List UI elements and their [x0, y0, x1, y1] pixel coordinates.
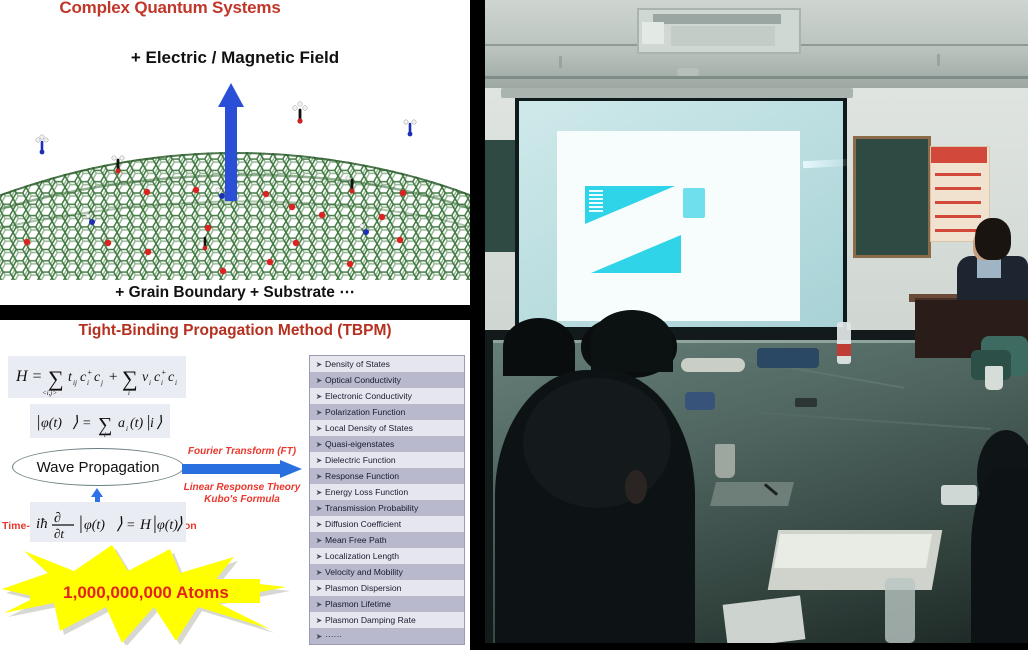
svg-text:i: i: [149, 379, 151, 387]
svg-text:H: H: [139, 517, 152, 533]
rolled-paper: [681, 358, 745, 372]
svg-text:∂t: ∂t: [54, 526, 64, 541]
projection-screen-housing: [501, 88, 853, 98]
svg-text:|: |: [36, 412, 41, 431]
svg-text:c: c: [80, 370, 87, 385]
panel-title-tbpm: Tight-Binding Propagation Method (TBPM): [0, 322, 470, 340]
arrow-bullet-icon: ➤: [313, 440, 325, 449]
loose-paper: [723, 595, 806, 643]
quantity-list-item-label: Energy Loss Function: [325, 487, 408, 497]
arrow-bullet-icon: ➤: [313, 488, 325, 497]
quantity-list-item-label: Local Density of States: [325, 423, 413, 433]
arrow-bullet-icon: ➤: [313, 392, 325, 401]
svg-text:i: i: [175, 379, 177, 387]
quantity-list-item[interactable]: ➤Plasmon Dispersion: [310, 580, 464, 596]
presenter-shirt: [977, 258, 1001, 278]
quantity-list-item[interactable]: ➤Polarization Function: [310, 404, 464, 420]
quantity-list-item-label: Localization Length: [325, 551, 399, 561]
quantity-list-item[interactable]: ➤Optical Conductivity: [310, 372, 464, 388]
label-fourier-transform: Fourier Transform (FT): [180, 446, 304, 457]
poster-header: [931, 147, 987, 163]
svg-text:=: =: [82, 416, 91, 431]
svg-text:+: +: [87, 368, 92, 377]
screenshot-root: Complex Quantum Systems + Electric / Mag…: [0, 0, 1028, 650]
phone-on-table-2: [941, 485, 977, 505]
quantity-list-item[interactable]: ➤Response Function: [310, 468, 464, 484]
quantity-list-item[interactable]: ➤Electronic Conductivity: [310, 388, 464, 404]
lrt-line2: Kubo's Formula: [204, 494, 280, 505]
quantity-list-item[interactable]: ➤······: [310, 628, 464, 644]
svg-text:i: i: [161, 379, 163, 387]
svg-text:i: i: [128, 389, 130, 397]
svg-text:(t): (t): [130, 416, 144, 431]
arrow-bullet-icon: ➤: [313, 504, 325, 513]
arrow-bullet-icon: ➤: [313, 360, 325, 369]
slide-text-lines: [589, 190, 607, 212]
water-bottle-1: [837, 322, 851, 364]
slide-triangle-lower: [591, 235, 681, 273]
arrow-bullet-icon: ➤: [313, 520, 325, 529]
svg-text:c: c: [168, 370, 175, 385]
quantity-list-item-label: Response Function: [325, 471, 399, 481]
equation-wavefunction: | φ(t) ⟩ = ∑ i a i (t) | i ⟩: [30, 404, 170, 438]
complex-quantum-systems-panel: Complex Quantum Systems + Electric / Mag…: [0, 0, 470, 305]
arrow-bullet-icon: ➤: [313, 632, 325, 641]
atoms-starburst: 1,000,000,000 Atoms: [2, 545, 292, 645]
quantity-list-item[interactable]: ➤Dielectric Function: [310, 452, 464, 468]
lrt-line1: Linear Response Theory: [184, 482, 301, 493]
quantity-list-item[interactable]: ➤Localization Length: [310, 548, 464, 564]
arrow-bullet-icon: ➤: [313, 552, 325, 561]
arrow-bullet-icon: ➤: [313, 584, 325, 593]
ceiling-hook-left: [559, 56, 562, 68]
wave-propagation-label: Wave Propagation: [37, 459, 160, 476]
slide-rounded-box: [683, 188, 705, 218]
svg-text:∂: ∂: [54, 511, 61, 526]
blackboard-left: [485, 140, 518, 252]
bag-on-table: [757, 348, 819, 368]
caption-electric-magnetic-field: + Electric / Magnetic Field: [0, 48, 470, 68]
ceiling-sensor: [677, 68, 699, 76]
ac-inner-slot: [653, 14, 781, 24]
svg-text:+: +: [108, 369, 118, 385]
equation-schrodinger: iħ ∂ ∂t | φ(t) ⟩ = H | φ(t) ⟩: [30, 502, 186, 542]
audience-head-1: [503, 318, 575, 376]
quantity-list-item[interactable]: ➤Plasmon Damping Rate: [310, 612, 464, 628]
quantity-list-item[interactable]: ➤Velocity and Mobility: [310, 564, 464, 580]
ceiling-rail-2: [485, 76, 1028, 79]
svg-text:⟩: ⟩: [176, 514, 183, 533]
equation-hamiltonian: H = ∑ <i,j> t ij c + i c j + ∑ i v i c +…: [8, 356, 186, 398]
audience-head-2: [591, 310, 673, 372]
small-bag: [685, 392, 715, 410]
arrow-bullet-icon: ➤: [313, 472, 325, 481]
quantity-list-item-label: Diffusion Coefficient: [325, 519, 401, 529]
quantity-list-item-label: ······: [325, 631, 342, 641]
quantity-list-item-label: Polarization Function: [325, 407, 405, 417]
quantity-list-item[interactable]: ➤Density of States: [310, 356, 464, 372]
paper-cup-center: [715, 444, 735, 478]
quantity-list-item[interactable]: ➤Diffusion Coefficient: [310, 516, 464, 532]
svg-text:i: i: [150, 416, 154, 431]
arrow-bullet-icon: ➤: [313, 536, 325, 545]
ceiling-hook-right: [937, 54, 940, 66]
graphene-sheet-illustration: [0, 80, 470, 285]
svg-text:φ(t): φ(t): [84, 518, 105, 533]
arrow-bullet-icon: ➤: [313, 456, 325, 465]
svg-text:iħ: iħ: [36, 516, 48, 532]
quantity-list-item-label: Transmission Probability: [325, 503, 418, 513]
svg-text:⟩: ⟩: [72, 414, 79, 431]
quantity-list-item[interactable]: ➤Plasmon Lifetime: [310, 596, 464, 612]
computable-quantities-list[interactable]: ➤Density of States➤Optical Conductivity➤…: [309, 355, 465, 645]
lecture-room-photo: [485, 0, 1028, 643]
arrow-bullet-icon: ➤: [313, 424, 325, 433]
svg-text:v: v: [142, 370, 149, 385]
quantity-list-item-label: Dielectric Function: [325, 455, 396, 465]
wave-propagation-node: Wave Propagation: [12, 448, 184, 486]
notepad: [710, 482, 794, 506]
panel-title-complex-quantum-systems: Complex Quantum Systems: [0, 0, 340, 18]
svg-text:i: i: [104, 431, 106, 438]
svg-text:φ(t): φ(t): [41, 416, 62, 431]
quantity-list-item[interactable]: ➤Local Density of States: [310, 420, 464, 436]
quantity-list-item[interactable]: ➤Mean Free Path: [310, 532, 464, 548]
svg-text:ij: ij: [73, 379, 77, 387]
audience-ear: [625, 470, 647, 504]
audience-head-foreground-crown: [523, 378, 671, 508]
blackboard-right: [853, 136, 931, 258]
quantity-list-item[interactable]: ➤Energy Loss Function: [310, 484, 464, 500]
quantity-list-item-label: Density of States: [325, 359, 390, 369]
svg-text:=: =: [126, 518, 135, 533]
quantity-list-item[interactable]: ➤Quasi-eigenstates: [310, 436, 464, 452]
audience-head-right: [971, 468, 1028, 643]
svg-text:a: a: [118, 416, 125, 431]
svg-text:c: c: [94, 370, 101, 385]
arrow-bullet-icon: ➤: [313, 568, 325, 577]
label-one-billion-atoms: 1,000,000,000 Atoms: [32, 583, 260, 603]
svg-text:c: c: [154, 370, 161, 385]
caption-grain-boundary-substrate: + Grain Boundary + Substrate ⋯: [0, 283, 470, 302]
quantity-list-item-label: Plasmon Dispersion: [325, 583, 401, 593]
quantity-list-item-label: Plasmon Damping Rate: [325, 615, 416, 625]
quantity-list-item-label: Plasmon Lifetime: [325, 599, 391, 609]
ac-vent-icon: [642, 22, 664, 44]
arrow-bullet-icon: ➤: [313, 376, 325, 385]
svg-text:+: +: [161, 368, 166, 377]
svg-text:⟩: ⟩: [156, 414, 163, 431]
book-page: [774, 534, 932, 568]
quantity-list-item[interactable]: ➤Transmission Probability: [310, 500, 464, 516]
equation-wavefunction-svg: | φ(t) ⟩ = ∑ i a i (t) | i ⟩: [30, 404, 170, 438]
quantity-list-item-label: Electronic Conductivity: [325, 391, 412, 401]
quantity-list-item-label: Quasi-eigenstates: [325, 439, 394, 449]
presenter-head: [975, 218, 1011, 260]
arrow-bullet-icon: ➤: [313, 616, 325, 625]
label-linear-response-theory: Linear Response Theory Kubo's Formula: [178, 482, 306, 506]
ac-grille: [671, 26, 775, 46]
svg-text:j: j: [100, 379, 103, 387]
projected-slide: [557, 131, 800, 321]
field-arrow-icon: [218, 83, 244, 201]
svg-text:∑: ∑: [122, 366, 138, 391]
svg-text:i: i: [87, 379, 89, 387]
quantity-list-item-label: Optical Conductivity: [325, 375, 401, 385]
equation-hamiltonian-svg: H = ∑ <i,j> t ij c + i c j + ∑ i v i c +…: [8, 356, 186, 398]
water-bottle-2: [885, 578, 915, 643]
svg-text:⟩: ⟩: [116, 514, 123, 533]
svg-text:∑: ∑: [48, 366, 64, 391]
slide-triangle-lower-svg: [591, 235, 681, 273]
svg-text:H =: H =: [15, 368, 42, 385]
svg-text:<i,j>: <i,j>: [42, 389, 57, 397]
transform-arrow-icon: [182, 460, 302, 478]
quantity-list-item-label: Velocity and Mobility: [325, 567, 403, 577]
quantity-list-item-label: Mean Free Path: [325, 535, 387, 545]
arrow-bullet-icon: ➤: [313, 408, 325, 417]
svg-text:i: i: [126, 425, 128, 433]
paper-cup-right: [985, 366, 1003, 390]
arrow-bullet-icon: ➤: [313, 600, 325, 609]
phone-on-table-1: [795, 398, 817, 407]
equation-schrodinger-svg: iħ ∂ ∂t | φ(t) ⟩ = H | φ(t) ⟩: [30, 502, 186, 542]
svg-text:|: |: [78, 513, 83, 534]
